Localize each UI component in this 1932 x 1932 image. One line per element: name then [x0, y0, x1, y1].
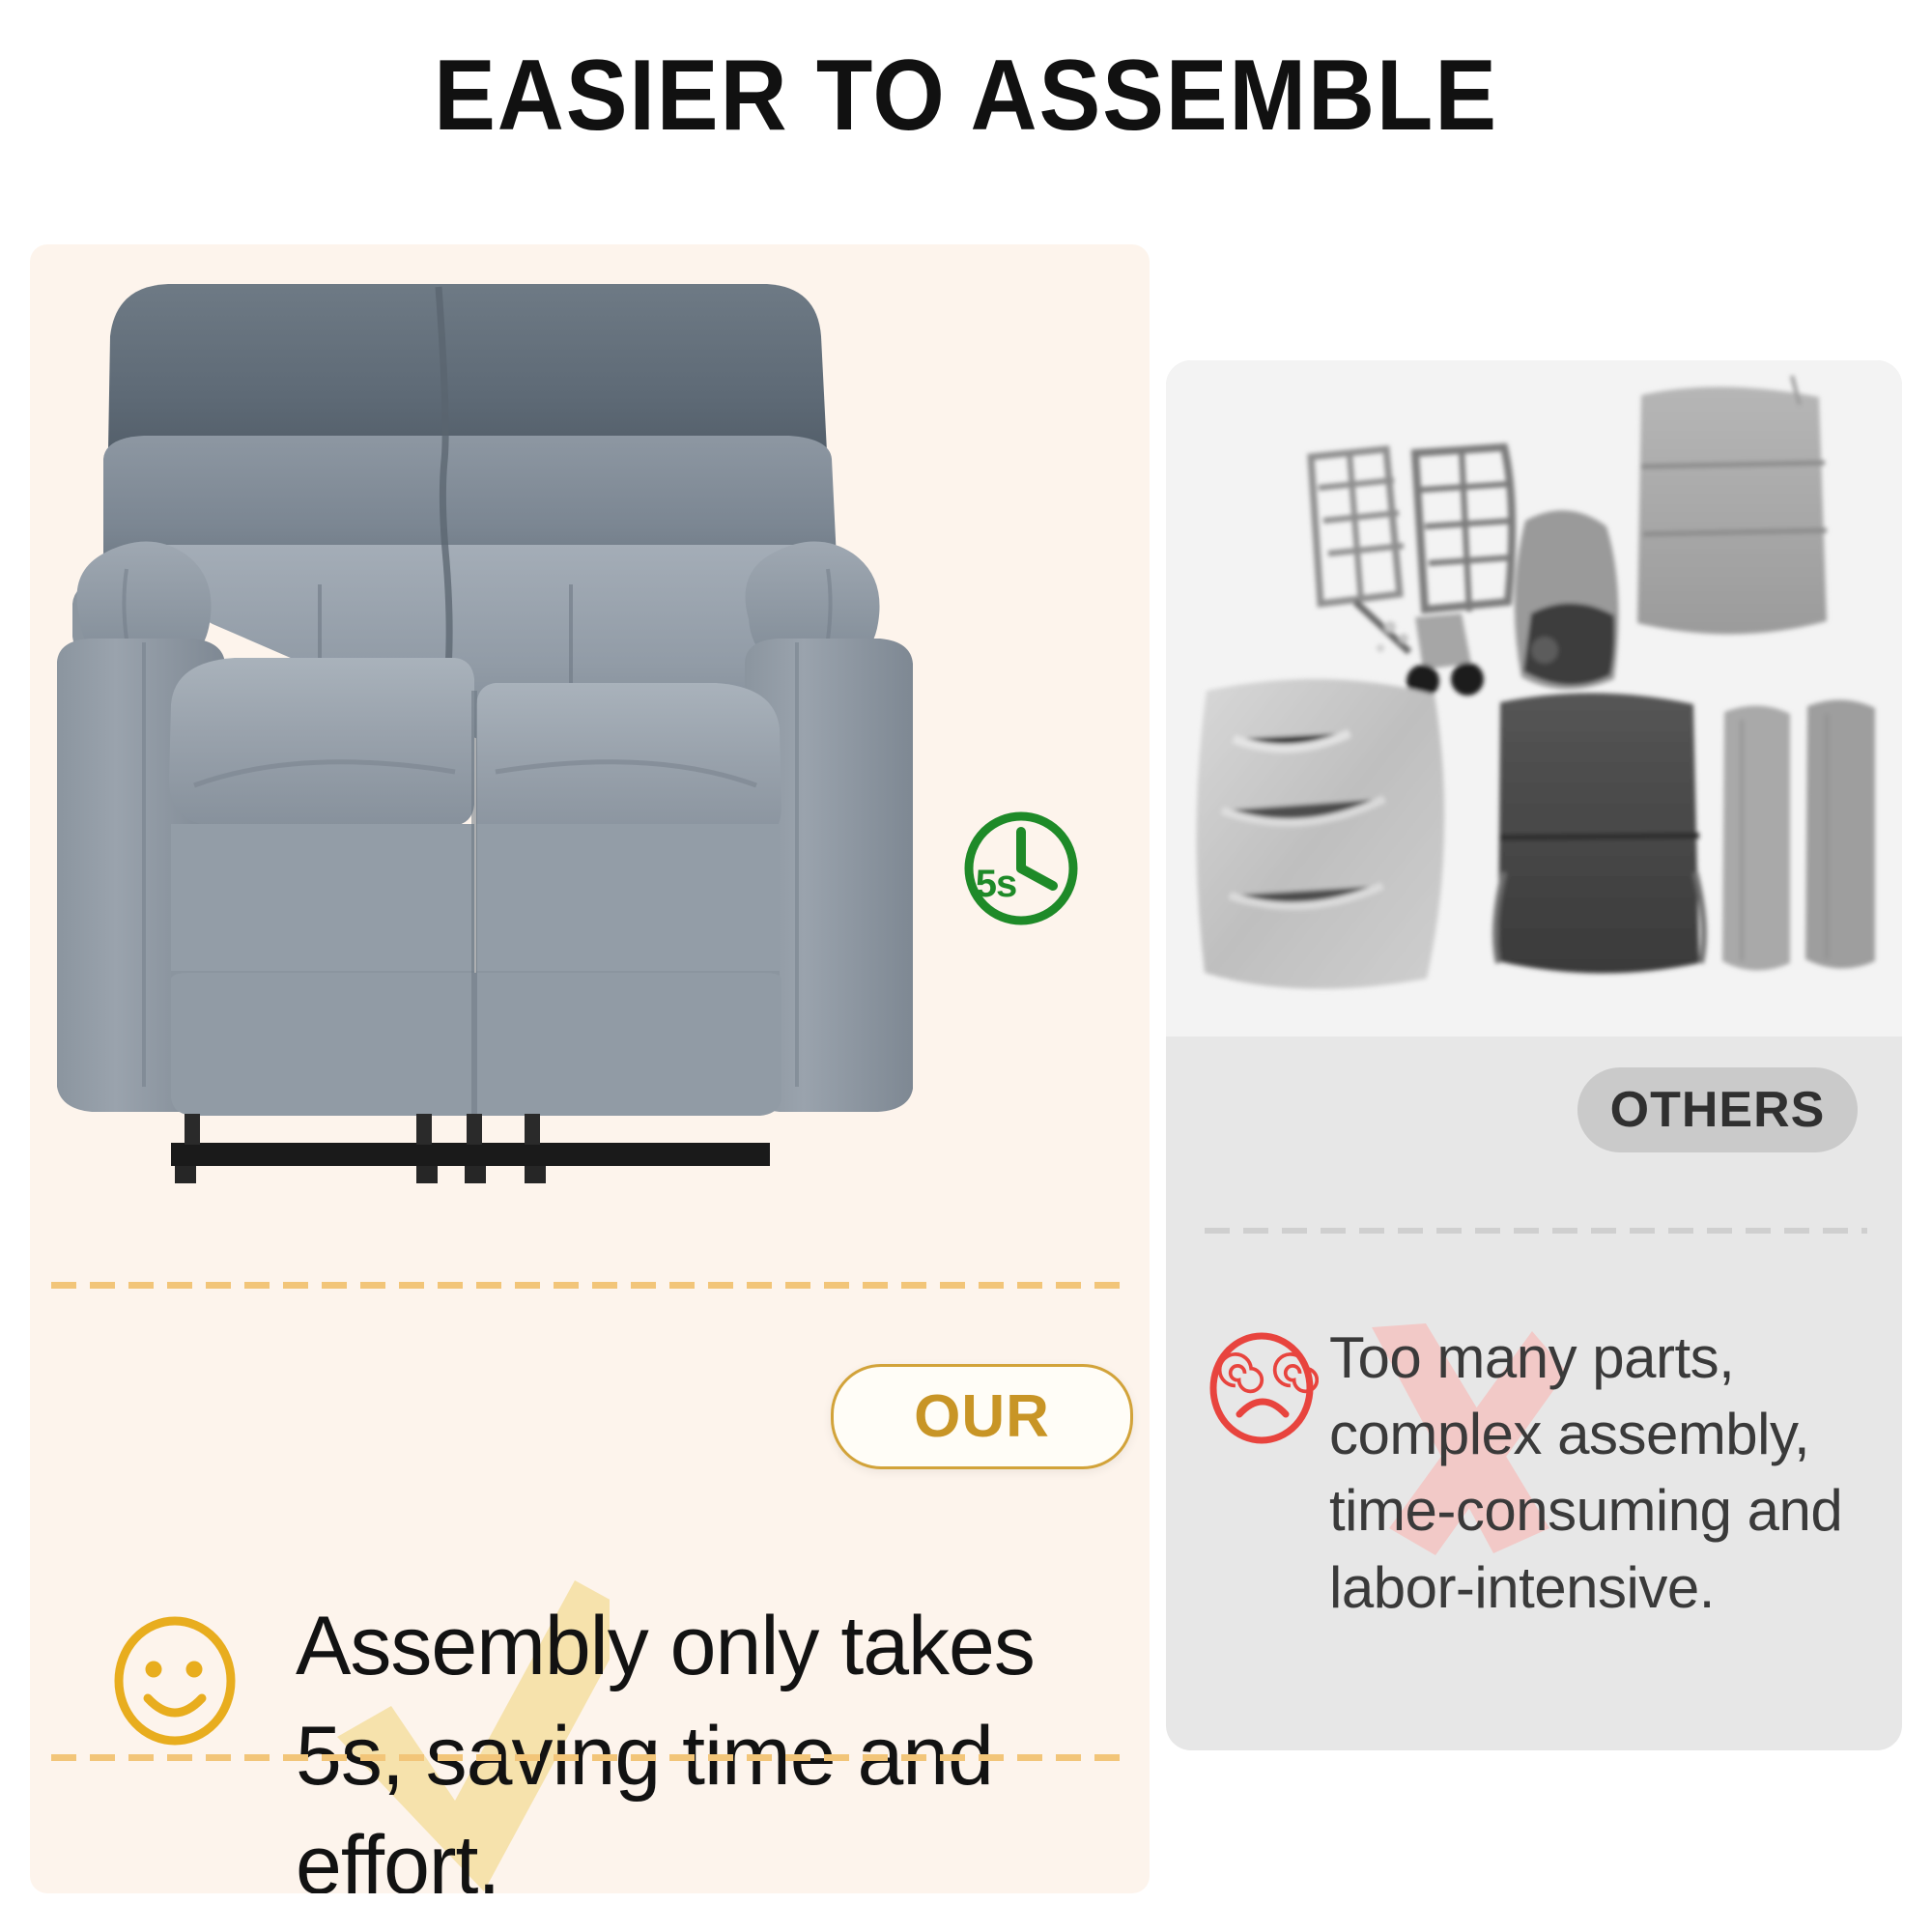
others-product-panel: OTHERS Too many parts,	[1166, 360, 1902, 1750]
metal-base-frame	[171, 1114, 770, 1183]
dizzy-sad-face-icon	[1205, 1331, 1319, 1445]
disassembled-parts-photo	[1166, 360, 1902, 1037]
recliner-sofa-illustration	[30, 244, 1150, 1220]
divider-dashed-others	[1205, 1228, 1867, 1234]
infographic-root: EASIER TO ASSEMBLE	[0, 0, 1932, 1932]
benefit-text: Assembly only takes 5s, saving time and …	[296, 1592, 1126, 1893]
drawback-line-4: labor-intensive.	[1329, 1549, 1899, 1626]
our-badge-label: OUR	[914, 1382, 1050, 1451]
divider-dashed-top	[51, 1282, 1126, 1289]
others-badge-label: OTHERS	[1610, 1081, 1826, 1139]
benefit-line-1: Assembly only takes	[296, 1592, 1126, 1702]
others-badge: OTHERS	[1577, 1067, 1858, 1152]
our-badge: OUR	[831, 1364, 1133, 1469]
benefit-line-3: effort.	[296, 1811, 1126, 1893]
smiley-face-icon	[107, 1613, 242, 1748]
drawback-line-3: time-consuming and	[1329, 1472, 1899, 1548]
benefit-block: Assembly only takes 5s, saving time and …	[102, 1592, 1126, 1893]
drawback-block: Too many parts, complex assembly, time-c…	[1207, 1323, 1884, 1690]
drawback-text: Too many parts, complex assembly, time-c…	[1329, 1320, 1899, 1626]
our-product-panel: 5s OUR Assembly o	[30, 244, 1150, 1893]
clock-icon: 5s	[961, 809, 1082, 929]
divider-dashed-bottom	[51, 1754, 1126, 1761]
drawback-line-1: Too many parts,	[1329, 1320, 1899, 1396]
clock-duration-label: 5s	[961, 863, 1031, 906]
drawback-line-2: complex assembly,	[1329, 1396, 1899, 1472]
page-title: EASIER TO ASSEMBLE	[77, 41, 1855, 151]
